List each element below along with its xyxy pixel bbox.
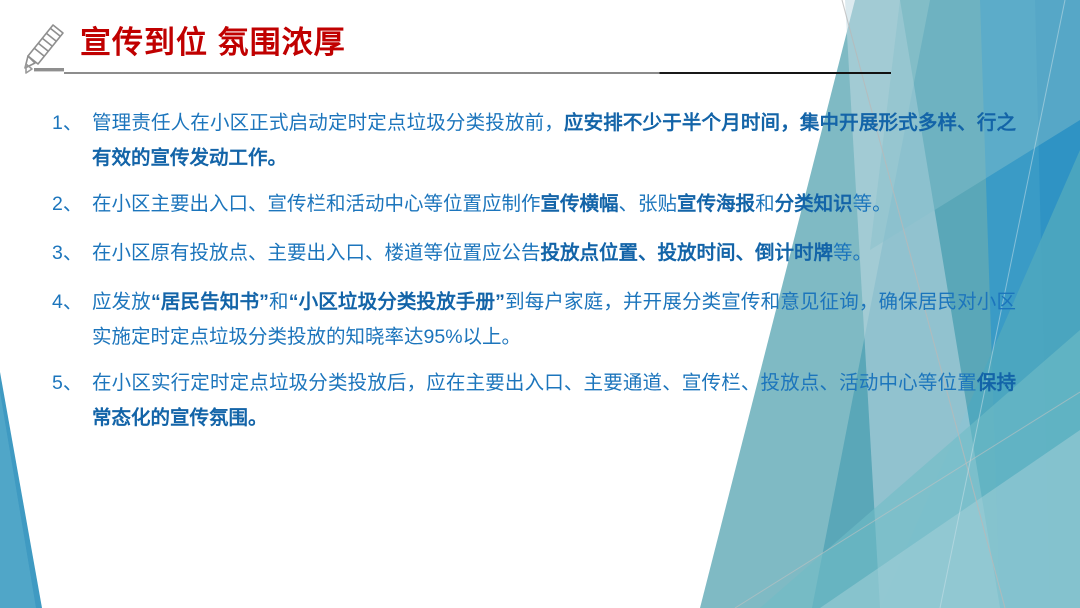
pencil-icon [18,20,74,78]
list-item-text: 在小区原有投放点、主要出入口、楼道等位置应公告投放点位置、投放时间、倒计时牌等。 [92,236,1016,271]
emphasis-text: “小区垃圾分类投放手册” [289,291,505,313]
pencil-baseline [34,68,64,71]
art-shape-left-wedge [0,372,42,608]
list-item: 4、 应发放“居民告知书”和“小区垃圾分类投放手册”到每户家庭，并开展分类宣传和… [52,285,1016,355]
list-item: 1、 管理责任人在小区正式启动定时定点垃圾分类投放前，应安排不少于半个月时间，集… [52,106,1016,176]
list-item-text: 在小区主要出入口、宣传栏和活动中心等位置应制作宣传横幅、张贴宣传海报和分类知识等… [92,187,1016,222]
plain-text: 和 [755,193,775,215]
emphasis-text: 宣传海报 [677,193,755,215]
list-item-number: 4、 [52,285,92,320]
page-title: 宣传到位 氛围浓厚 [80,22,346,64]
slide-canvas: 宣传到位 氛围浓厚 1、 管理责任人在小区正式启动定时定点垃圾分类投放前，应安排… [0,0,1080,608]
emphasis-text: 投放点位置、投放时间、倒计时牌 [541,242,834,264]
emphasis-text: 宣传横幅 [541,193,619,215]
emphasis-text: “居民告知书” [151,291,269,313]
list-item-number: 2、 [52,187,92,222]
list-item: 2、 在小区主要出入口、宣传栏和活动中心等位置应制作宣传横幅、张贴宣传海报和分类… [52,187,1016,222]
emphasis-text: 分类知识 [775,193,853,215]
plain-text: 和 [269,291,289,313]
art-shape-pale-sweep [820,430,1080,608]
list-item: 3、 在小区原有投放点、主要出入口、楼道等位置应公告投放点位置、投放时间、倒计时… [52,236,1016,271]
slide-header: 宣传到位 氛围浓厚 [0,0,1080,92]
title-underline-rule [64,72,891,74]
plain-text: 在小区原有投放点、主要出入口、楼道等位置应公告 [92,242,541,264]
list-item-number: 5、 [52,366,92,401]
list-item: 5、 在小区实行定时定点垃圾分类投放后，应在主要出入口、主要通道、宣传栏、投放点… [52,366,1016,436]
list-item-number: 1、 [52,106,92,141]
list-item-text: 应发放“居民告知书”和“小区垃圾分类投放手册”到每户家庭，并开展分类宣传和意见征… [92,285,1016,355]
plain-text: 管理责任人在小区正式启动定时定点垃圾分类投放前， [92,112,564,134]
art-shape-left-wedge-soft [0,392,36,608]
plain-text: 、张贴 [619,193,678,215]
plain-text: 等。 [853,193,892,215]
bullet-list: 1、 管理责任人在小区正式启动定时定点垃圾分类投放前，应安排不少于半个月时间，集… [52,106,1016,436]
list-item-text: 管理责任人在小区正式启动定时定点垃圾分类投放前，应安排不少于半个月时间，集中开展… [92,106,1016,176]
list-item-text: 在小区实行定时定点垃圾分类投放后，应在主要出入口、主要通道、宣传栏、投放点、活动… [92,366,1016,436]
plain-text: 等。 [833,242,872,264]
plain-text: 应发放 [92,291,151,313]
list-item-number: 3、 [52,236,92,271]
plain-text: 在小区主要出入口、宣传栏和活动中心等位置应制作 [92,193,541,215]
plain-text: 在小区实行定时定点垃圾分类投放后，应在主要出入口、主要通道、宣传栏、投放点、活动… [92,372,977,394]
